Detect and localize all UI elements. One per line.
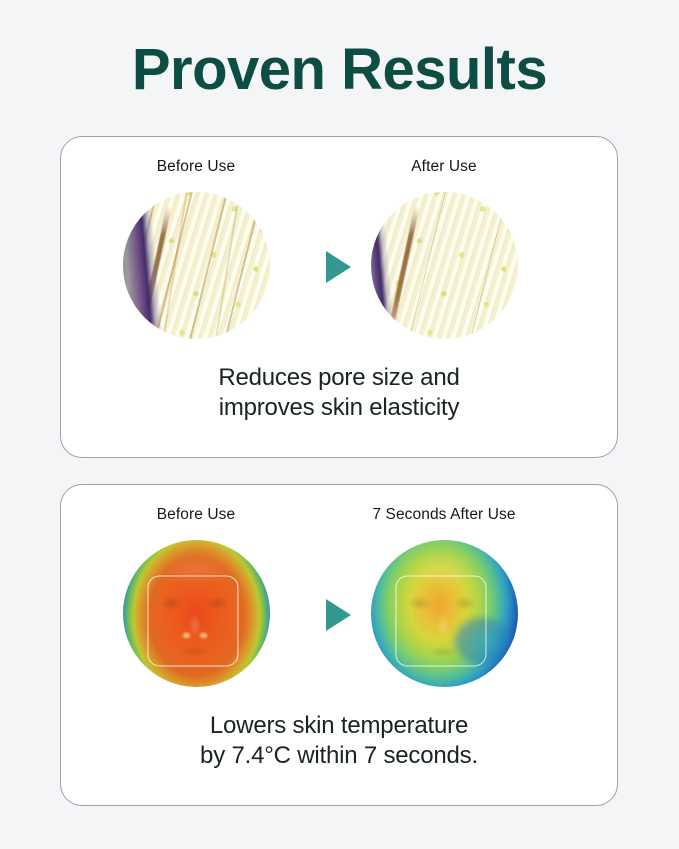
- page-title: Proven Results: [0, 37, 679, 103]
- proven-results-page: Proven Results Before Use After Use: [0, 0, 679, 849]
- region-of-interest-box: [395, 575, 486, 666]
- skin-microscope-image-before: [123, 192, 270, 339]
- before-image-wrapper: [123, 192, 270, 339]
- after-label: 7 Seconds After Use: [349, 505, 539, 525]
- skin-temperature-card: Before Use 7 Seconds After Use: [60, 484, 618, 806]
- caption-line: improves skin elasticity: [61, 393, 617, 423]
- after-label: After Use: [349, 157, 539, 177]
- after-image-wrapper: [371, 540, 518, 687]
- pore-elasticity-card: Before Use After Use: [60, 136, 618, 458]
- card-caption: Reduces pore size and improves skin elas…: [61, 363, 617, 423]
- skin-microscope-image-after: [371, 192, 518, 339]
- caption-line: Lowers skin temperature: [61, 711, 617, 741]
- after-panel: After Use: [349, 157, 539, 339]
- before-panel: Before Use: [101, 505, 291, 687]
- caption-line: by 7.4°C within 7 seconds.: [61, 741, 617, 771]
- arrow-right-icon: [326, 599, 351, 631]
- arrow-right-icon: [326, 251, 351, 283]
- card-caption: Lowers skin temperature by 7.4°C within …: [61, 711, 617, 771]
- after-image-wrapper: [371, 192, 518, 339]
- before-panel: Before Use: [101, 157, 291, 339]
- thermal-face-image-after: [371, 540, 518, 687]
- before-label: Before Use: [101, 505, 291, 525]
- region-of-interest-box: [147, 575, 238, 666]
- after-panel: 7 Seconds After Use: [349, 505, 539, 687]
- caption-line: Reduces pore size and: [61, 363, 617, 393]
- before-label: Before Use: [101, 157, 291, 177]
- before-image-wrapper: [123, 540, 270, 687]
- thermal-face-image-before: [123, 540, 270, 687]
